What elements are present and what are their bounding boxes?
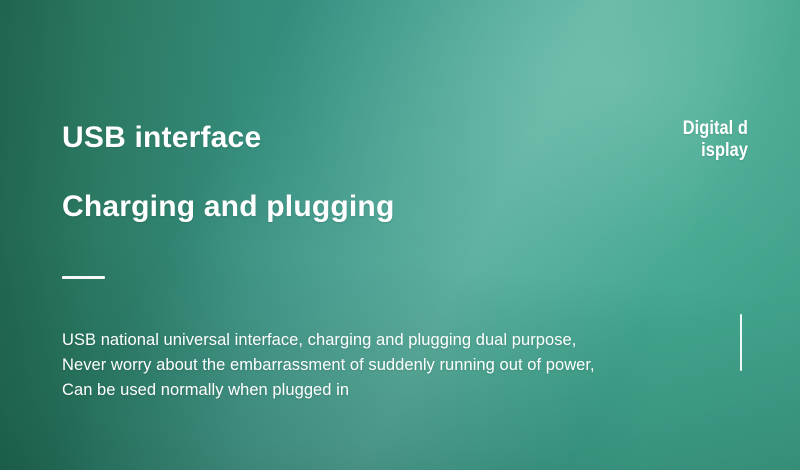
horizontal-rule bbox=[62, 276, 105, 279]
vertical-rule bbox=[740, 314, 742, 371]
body-copy-line: USB national universal interface, chargi… bbox=[62, 328, 595, 353]
body-copy-line: Never worry about the embarrassment of s… bbox=[62, 353, 595, 378]
body-copy: USB national universal interface, chargi… bbox=[62, 328, 595, 403]
banner-content: USB interface Charging and plugging Digi… bbox=[0, 0, 800, 470]
side-label-digital-display: Digital display bbox=[683, 118, 748, 162]
heading-secondary: Charging and plugging bbox=[62, 190, 395, 224]
product-feature-banner: USB interface Charging and plugging Digi… bbox=[0, 0, 800, 470]
heading-primary: USB interface bbox=[62, 121, 261, 155]
body-copy-line: Can be used normally when plugged in bbox=[62, 378, 595, 403]
